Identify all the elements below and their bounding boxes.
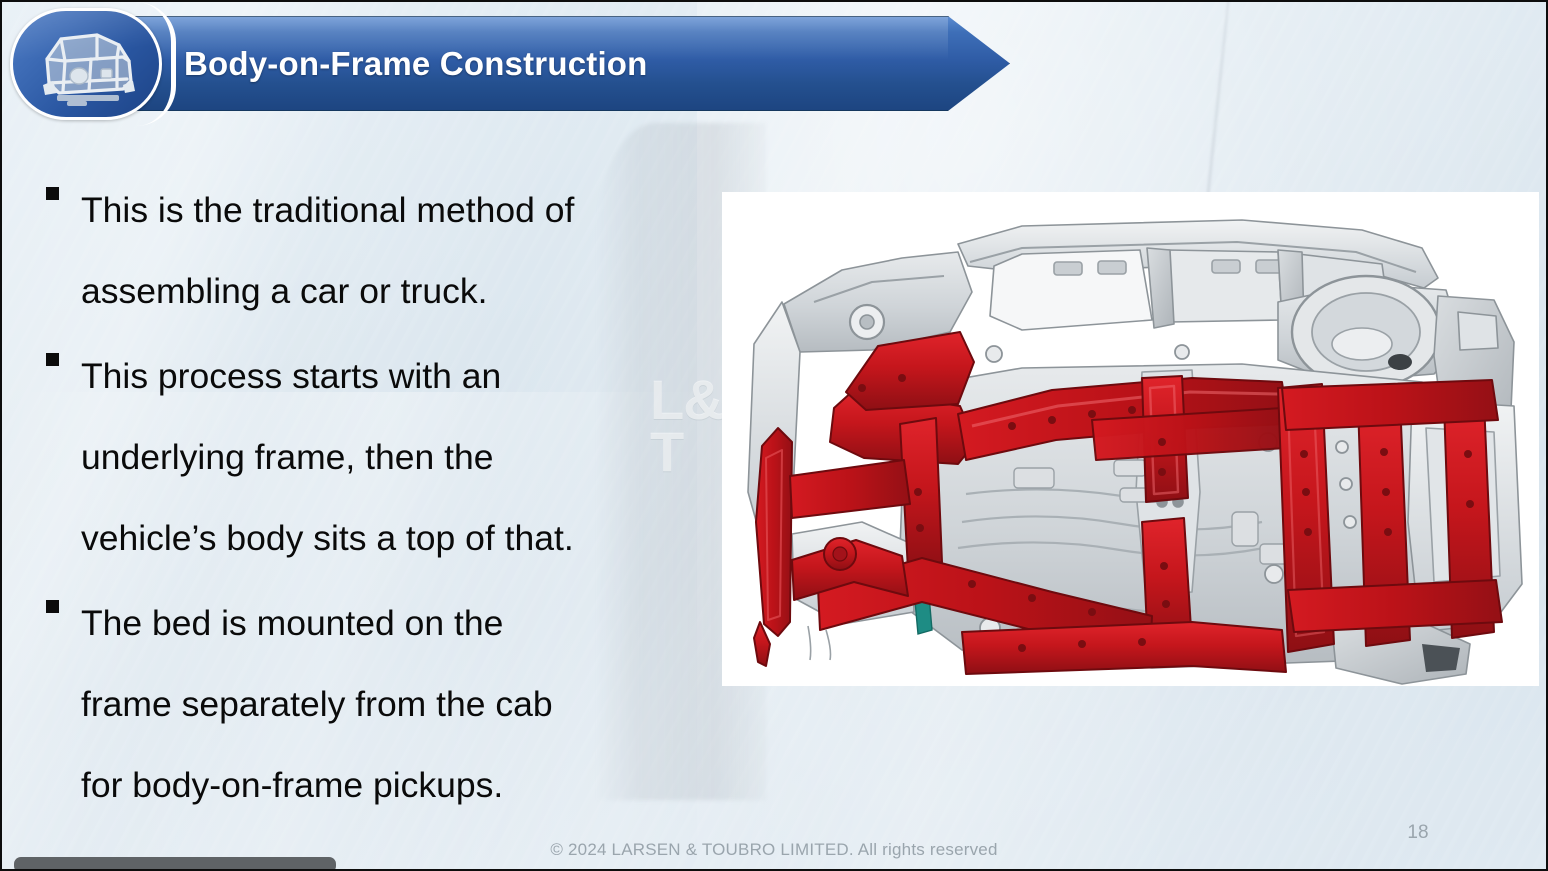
bullet-line: The bed is mounted on the [81, 583, 706, 664]
bullet-line: frame separately from the cab [81, 664, 706, 745]
bullet-text-2: This process starts with an underlying f… [81, 336, 706, 579]
square-bullet-icon [46, 600, 59, 613]
car-body-shell-icon [27, 23, 151, 111]
bullet-text-1: This is the traditional method of assemb… [81, 170, 706, 332]
bullet-line: vehicle’s body sits a top of that. [81, 498, 706, 579]
bullet-list: This is the traditional method of assemb… [46, 170, 706, 830]
body-on-frame-diagram-panel [722, 192, 1539, 686]
square-bullet-icon [46, 353, 59, 366]
presentation-slide: L&T Body-on-Frame Construction [0, 0, 1548, 871]
bullet-line: underlying frame, then the [81, 417, 706, 498]
page-number: 18 [1398, 822, 1438, 844]
page-title: Body-on-Frame Construction [184, 16, 648, 111]
bullet-line: assembling a car or truck. [81, 251, 706, 332]
square-bullet-icon [46, 187, 59, 200]
list-item: This process starts with an underlying f… [46, 336, 706, 579]
bottom-accent-bar [14, 857, 336, 871]
body-on-frame-underbody-diagram [722, 192, 1539, 686]
bullet-line: This is the traditional method of [81, 170, 706, 251]
bullet-line: This process starts with an [81, 336, 706, 417]
bullet-text-3: The bed is mounted on the frame separate… [81, 583, 706, 826]
title-badge [10, 8, 162, 120]
list-item: This is the traditional method of assemb… [46, 170, 706, 332]
title-banner: Body-on-Frame Construction [105, 16, 1010, 111]
list-item: The bed is mounted on the frame separate… [46, 583, 706, 826]
bullet-line: for body-on-frame pickups. [81, 745, 706, 826]
